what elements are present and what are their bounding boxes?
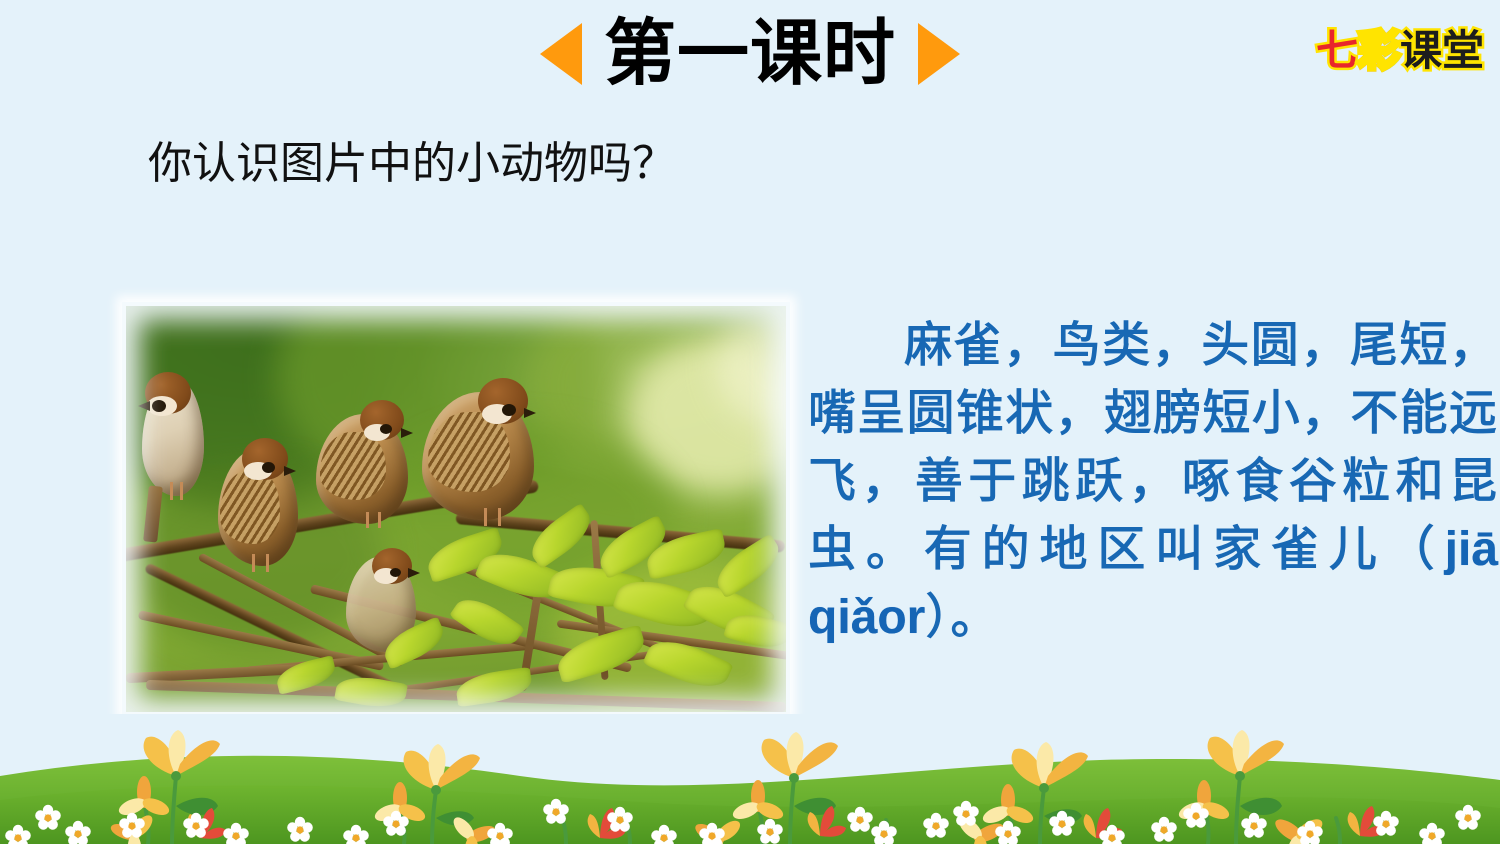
logo-char-ketang: 课堂 [1400,30,1484,72]
slide-canvas: 第一课时 七 彩 课堂 你认识图片中的小动物吗？ [0,0,1500,844]
slide-title-row: 第一课时 [0,8,1500,100]
triangle-right-icon [918,23,960,85]
description-part-1: 麻雀，鸟类，头圆，尾短，嘴呈圆锥状，翅膀短小，不能远飞，善于跳跃，啄食谷粒和昆虫… [808,319,1498,576]
sparrow-2 [218,448,298,566]
sparrow-4 [422,392,534,520]
sparrow-photo [126,306,786,712]
page-title: 第一课时 [604,18,896,90]
meadow-decoration [0,714,1500,844]
meadow-illustration [0,714,1500,844]
triangle-left-icon [540,23,582,85]
sparrow-3 [316,414,408,524]
logo-char-qi: 七 [1316,30,1358,72]
sparrow-description: 麻雀，鸟类，头圆，尾短，嘴呈圆锥状，翅膀短小，不能远飞，善于跳跃，啄食谷粒和昆虫… [808,312,1498,652]
sparrow-1 [142,378,204,496]
sparrow-photo-frame [122,302,790,716]
logo-char-cai: 彩 [1358,30,1400,72]
question-text: 你认识图片中的小动物吗？ [148,136,676,191]
description-part-2: ）。 [925,591,999,644]
brand-logo: 七 彩 课堂 [1316,16,1484,86]
